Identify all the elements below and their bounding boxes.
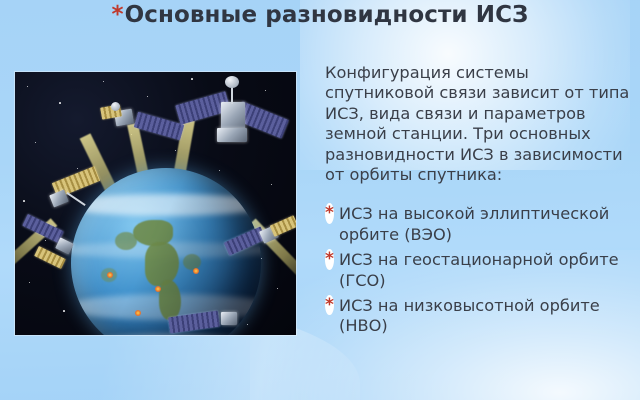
satellite-constellation-image — [15, 72, 296, 335]
satellite — [171, 76, 289, 162]
satellite — [223, 220, 296, 282]
slide-canvas: *Основные разновидности ИСЗ — [0, 0, 640, 400]
ground-station-marker — [135, 310, 141, 316]
bullet-asterisk-icon: * — [325, 249, 334, 269]
bullet-asterisk-icon: * — [325, 203, 334, 223]
list-item: * ИСЗ на высокой эллиптической орбите (В… — [325, 204, 631, 245]
ground-station-marker — [155, 286, 161, 292]
satellite — [165, 304, 251, 335]
bullet-asterisk-icon: * — [325, 295, 334, 315]
satellite-orbit-list: * ИСЗ на высокой эллиптической орбите (В… — [325, 204, 631, 336]
satellite — [45, 166, 109, 218]
intro-paragraph: Конфигурация системы спутниковой связи з… — [325, 63, 631, 185]
body-text-column: Конфигурация системы спутниковой связи з… — [325, 63, 631, 342]
list-item: * ИСЗ на геостационарной орбите (ГСО) — [325, 250, 631, 291]
ground-station-marker — [193, 268, 199, 274]
list-item-label: ИСЗ на низковысотной орбите (НВО) — [339, 296, 600, 335]
satellite — [21, 218, 83, 274]
list-item-label: ИСЗ на высокой эллиптической орбите (ВЭО… — [339, 204, 609, 243]
title-asterisk-icon: * — [111, 2, 123, 28]
ground-station-marker — [107, 272, 113, 278]
title-text: Основные разновидности ИСЗ — [125, 2, 529, 28]
list-item-label: ИСЗ на геостационарной орбите (ГСО) — [339, 250, 619, 289]
slide-title: *Основные разновидности ИСЗ — [0, 2, 640, 28]
list-item: * ИСЗ на низковысотной орбите (НВО) — [325, 296, 631, 337]
